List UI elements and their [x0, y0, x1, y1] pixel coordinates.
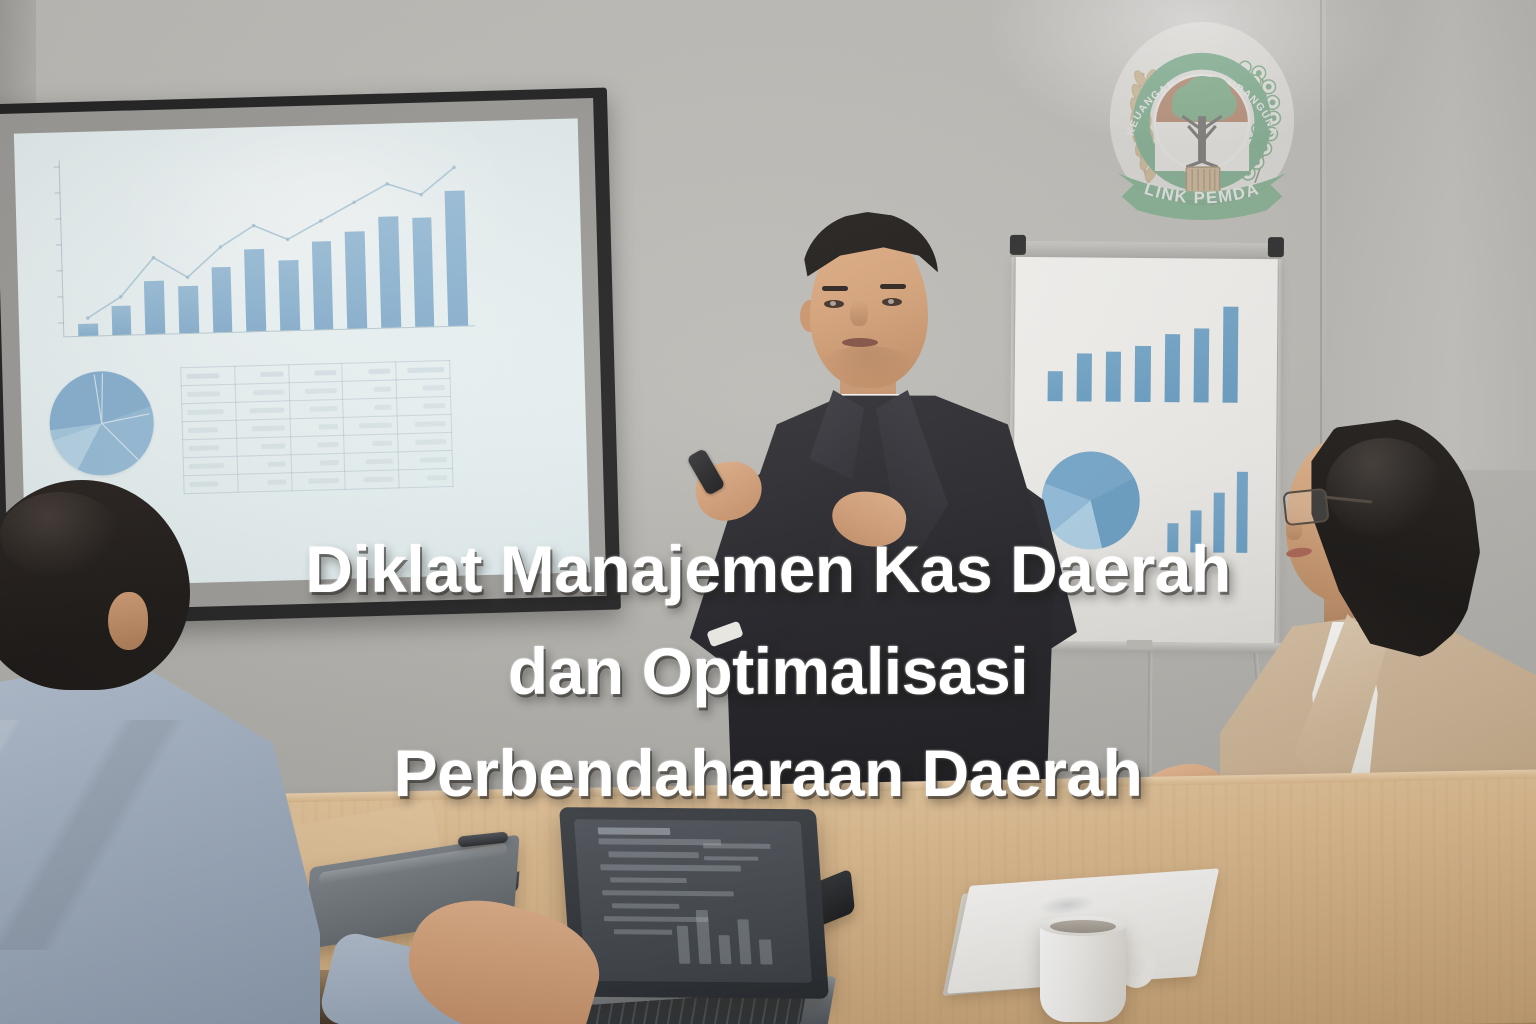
- coffee-mug[interactable]: [1040, 922, 1126, 1022]
- slide-y-tick: [57, 296, 63, 297]
- flipchart-top-cell: [1099, 302, 1129, 402]
- laptop-text-line: [612, 904, 680, 910]
- slide-table-header-cell: [342, 362, 396, 381]
- laptop-text-line: [703, 856, 758, 861]
- man-ear: [108, 592, 148, 650]
- presenter-nose: [850, 300, 868, 326]
- flipchart-top-cell: [1128, 302, 1158, 402]
- laptop-text-line: [613, 929, 672, 935]
- laptop-text-line: [703, 843, 771, 848]
- laptop-text-line: [602, 890, 734, 896]
- slide-table-cell: [290, 435, 344, 454]
- slide-bar-category-label: [382, 340, 402, 341]
- slide-table-header-cell: [235, 365, 289, 384]
- flipchart-top-bar: [1106, 352, 1122, 402]
- presenter-eye-highlight-left: [830, 301, 836, 306]
- flipchart-bottom-bar: [1213, 492, 1225, 553]
- logo-emblem: LEMBAGA KEUANGAN DAN PEMBANGUNAN DAERAH: [1104, 18, 1300, 228]
- presenter-eye-highlight-right: [888, 299, 894, 304]
- flipchart-top-cell: [1186, 302, 1216, 402]
- flipchart-top-cell: [1157, 302, 1187, 402]
- flipchart-bottom-bar: [1167, 524, 1179, 553]
- slide-pie-chart: [48, 370, 155, 477]
- laptop-mini-bar: [677, 926, 691, 964]
- laptop-mini-bar: [696, 910, 711, 964]
- presenter-eyebrow-right: [880, 284, 906, 289]
- laptop-text-line: [603, 916, 708, 922]
- flipchart-top-bar: [1135, 346, 1151, 402]
- slide-bar-category-label: [348, 341, 368, 342]
- slide-table-cell: [183, 438, 237, 457]
- laptop-mini-bar: [737, 919, 751, 964]
- slide-table-cell: [344, 416, 398, 435]
- woman-nose: [1286, 518, 1302, 540]
- flipchart-knob: [1126, 640, 1152, 649]
- laptop-mini-bar: [759, 940, 772, 965]
- laptop-text-line: [610, 878, 687, 884]
- slide-table-cell: [398, 432, 452, 451]
- slide-table-cell: [289, 381, 343, 400]
- slide-table-cell: [235, 401, 289, 420]
- slide-table-header-cell: [396, 360, 450, 379]
- participant-man: [0, 470, 330, 1024]
- slide-table-header-cell: [288, 363, 342, 382]
- woman-hair-highlight: [1326, 438, 1442, 538]
- mug-interior: [1050, 920, 1116, 933]
- slide-table-cell: [345, 470, 399, 489]
- flipchart-bottom-cell: [1161, 468, 1185, 552]
- slide-table-cell: [236, 419, 290, 438]
- flipchart-clamp-right: [1268, 237, 1284, 257]
- slide-y-tick: [58, 322, 64, 323]
- laptop-mini-bar: [718, 935, 731, 964]
- slide-bar-category-label: [314, 342, 334, 343]
- presenter-eyebrow-left: [822, 286, 848, 291]
- presenter-jaw-shading: [818, 346, 918, 388]
- slide-table-cell: [182, 402, 236, 421]
- slide-bar-category-label: [112, 348, 132, 349]
- slide-table-cell: [343, 380, 397, 399]
- slide-y-tick: [56, 244, 62, 245]
- slide-table-cell: [290, 417, 344, 436]
- flipchart-top-bar: [1222, 307, 1238, 403]
- presenter-mouth: [842, 338, 878, 347]
- slide-table-cell: [182, 420, 236, 439]
- slide-bar-category-label: [146, 347, 166, 348]
- slide-bar-category-label: [180, 346, 200, 347]
- slide-table-cell: [397, 396, 451, 415]
- slide-bar-category-label: [449, 338, 469, 339]
- flipchart-top-bar: [1164, 334, 1180, 402]
- slide-chart-trend-line: [67, 149, 476, 336]
- man-shirt-folds: [0, 720, 210, 950]
- slide-table-cell: [181, 384, 235, 403]
- slide-table-header-cell: [181, 366, 235, 385]
- slide-table-cell: [344, 434, 398, 453]
- slide-y-tick: [57, 270, 63, 271]
- link-pemda-logo: LEMBAGA KEUANGAN DAN PEMBANGUNAN DAERAH: [1104, 18, 1300, 228]
- flipchart-bottom-cell: [1184, 468, 1208, 552]
- scene-root: LEMBAGA KEUANGAN DAN PEMBANGUNAN DAERAH: [0, 0, 1536, 1024]
- slide-table-cell: [396, 378, 450, 397]
- slide-table-cell: [236, 437, 290, 456]
- flipchart-top-cell: [1215, 303, 1245, 403]
- flipchart-bottom-bar: [1190, 510, 1202, 552]
- laptop-heading-line: [597, 827, 670, 835]
- slide-bar-category-label: [247, 344, 267, 345]
- laptop-text-line: [608, 852, 699, 858]
- slide-y-tick: [54, 192, 60, 193]
- slide-table-cell: [343, 398, 397, 417]
- slide-table-cell: [289, 399, 343, 418]
- laptop-text-line: [600, 865, 741, 871]
- slide-table-cell: [397, 414, 451, 433]
- laptop-screen: [574, 819, 812, 983]
- man-hair-highlight: [0, 492, 120, 578]
- slide-bar-category-label: [213, 345, 233, 346]
- slide-bar-category-label: [281, 343, 301, 344]
- slide-table-cell: [235, 383, 289, 402]
- slide-table-cell: [399, 468, 453, 487]
- slide-y-tick: [55, 218, 61, 219]
- slide-bar-chart: [45, 147, 480, 359]
- slide-chart-y-axis: [59, 160, 65, 336]
- slide-table-cell: [398, 450, 452, 469]
- slide-pie-separators: [48, 370, 155, 477]
- slide-bar-category-label: [79, 348, 99, 349]
- slide-table-cell: [345, 452, 399, 471]
- slide-bar-category-label: [415, 339, 435, 340]
- flipchart-top-bar: [1193, 328, 1209, 402]
- slide-y-tick: [54, 166, 60, 167]
- presenter-person: [690, 150, 1090, 850]
